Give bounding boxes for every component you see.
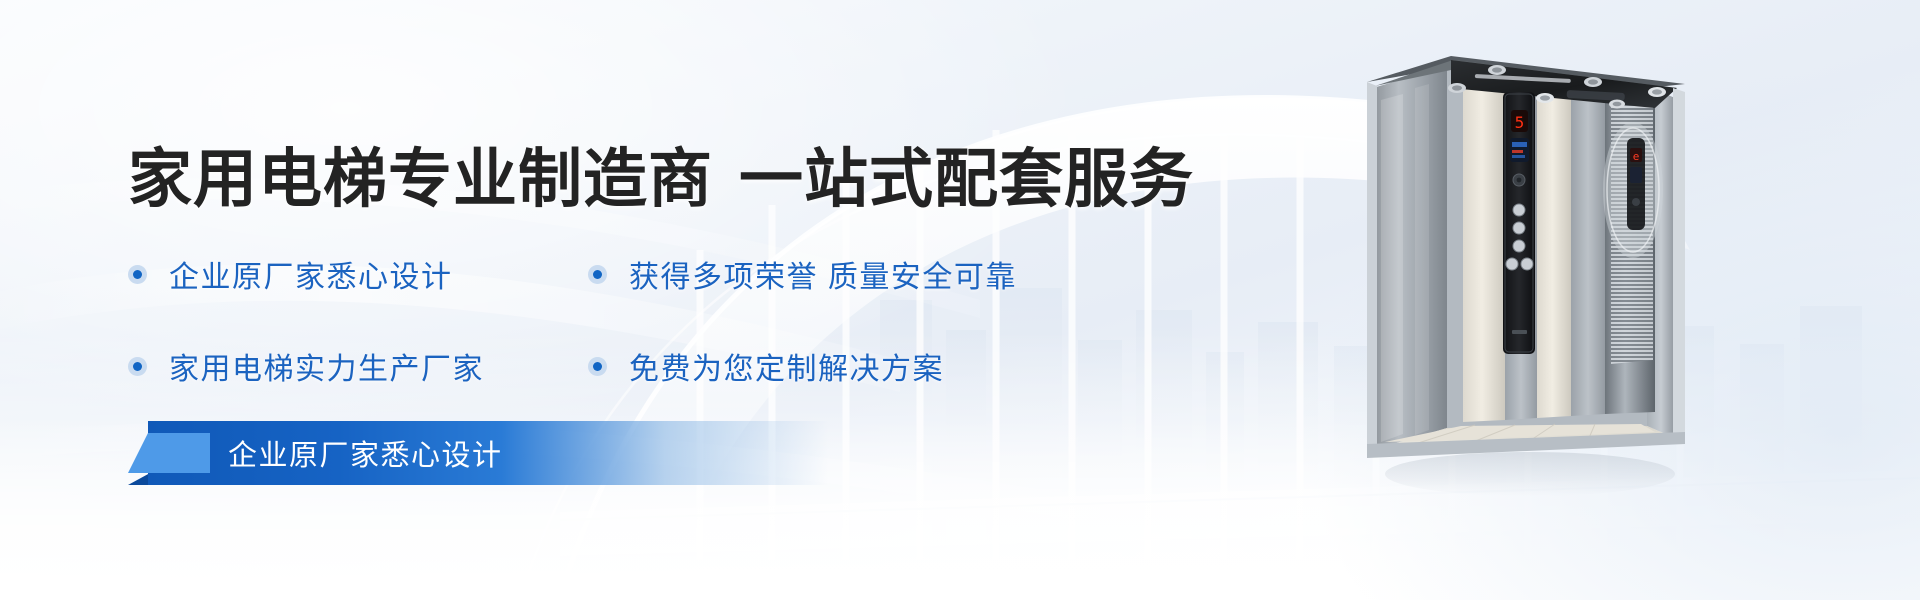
bullet-dot-icon: [128, 265, 147, 284]
feature-row: 家用电梯实力生产厂家 免费为您定制解决方案: [128, 344, 1188, 388]
feature-item-2: 获得多项荣誉 质量安全可靠: [588, 252, 1108, 296]
elevator-illustration: e 5: [1355, 30, 1705, 500]
promo-banner: e 5: [0, 0, 1920, 600]
feature-item-1: 企业原厂家悉心设计: [128, 252, 588, 296]
home-elevator-cabin-photo: e 5: [1355, 30, 1705, 500]
feature-label: 获得多项荣誉 质量安全可靠: [629, 252, 1017, 296]
ribbon-fold-shadow: [128, 473, 150, 485]
svg-text:e: e: [1633, 150, 1640, 163]
feature-label: 企业原厂家悉心设计: [169, 252, 453, 296]
feature-label: 免费为您定制解决方案: [629, 344, 944, 388]
ribbon-tag[interactable]: 企业原厂家悉心设计: [128, 421, 828, 485]
headline-part-2: 一站式配套服务: [739, 143, 1194, 215]
bullet-dot-icon: [588, 265, 607, 284]
feature-item-3: 家用电梯实力生产厂家: [128, 344, 588, 388]
bullet-dot-icon: [128, 357, 147, 376]
feature-label: 家用电梯实力生产厂家: [169, 344, 484, 388]
svg-text:5: 5: [1515, 113, 1525, 132]
feature-item-4: 免费为您定制解决方案: [588, 344, 1108, 388]
feature-list: 企业原厂家悉心设计 获得多项荣誉 质量安全可靠 家用电梯实力生产厂家 免费为您定…: [128, 252, 1188, 436]
headline-part-1: 家用电梯专业制造商: [128, 143, 713, 215]
ribbon-label: 企业原厂家悉心设计: [228, 421, 503, 485]
banner-content: 家用电梯专业制造商一站式配套服务 企业原厂家悉心设计 获得多项荣誉 质量安全可靠…: [0, 0, 1300, 600]
ribbon-fold-icon: [148, 433, 210, 473]
feature-row: 企业原厂家悉心设计 获得多项荣誉 质量安全可靠: [128, 252, 1188, 296]
bullet-dot-icon: [588, 357, 607, 376]
page-title: 家用电梯专业制造商一站式配套服务: [128, 128, 1194, 220]
